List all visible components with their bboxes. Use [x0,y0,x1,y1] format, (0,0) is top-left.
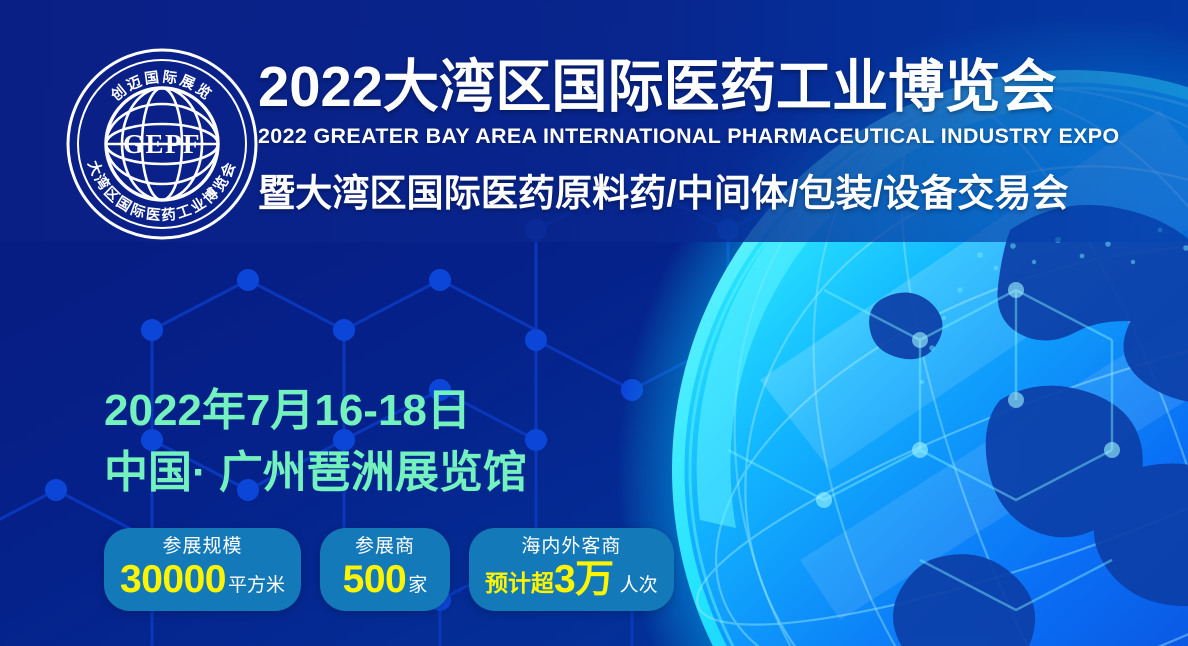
stat-value-unit: 人次 [614,576,658,596]
banner-header: GEPF 创迈国际展览 大湾区国际医药工业博览会 2022大湾区国际医药工业博览… [0,0,1188,240]
stat-value: 30000 平方米 [120,560,285,601]
stat-value: 预计超 3万 人次 [485,560,658,601]
stat-value-unit: 平方米 [226,576,285,596]
stat-label: 海内外客商 [521,535,621,559]
page-title-english: 2022 GREATER BAY AREA INTERNATIONAL PHAR… [258,124,1154,149]
stat-value-number: 500 [343,560,407,601]
event-date: 2022年7月16-18日 [104,388,527,434]
stat-pill-scale: 参展规模 30000 平方米 [104,528,301,611]
stat-pill-visitors: 海内外客商 预计超 3万 人次 [469,528,674,611]
page-title: 2022大湾区国际医药工业博览会 [258,58,1145,116]
stat-label: 参展商 [355,535,415,559]
stat-label: 参展规模 [162,535,242,559]
event-info: 2022年7月16-18日 中国· 广州琶洲展览馆 [104,388,527,496]
event-place: 中国· 广州琶洲展览馆 [104,450,527,496]
stats-row: 参展规模 30000 平方米 参展商 500 家 海内外客商 预计超 3万 人次 [104,528,674,611]
logo-acronym: GEPF [123,129,201,159]
expo-logo: GEPF 创迈国际展览 大湾区国际医药工业博览会 [64,46,260,242]
stat-pill-exhibitors: 参展商 500 家 [320,528,450,611]
logo-bottom-arc-text: 大湾区国际医药工业博览会 [84,158,240,224]
expo-banner: GEPF 创迈国际展览 大湾区国际医药工业博览会 2022大湾区国际医药工业博览… [0,0,1188,646]
stat-value-prefix: 预计超 [485,571,554,595]
logo-svg: GEPF 创迈国际展览 大湾区国际医药工业博览会 [64,46,260,242]
stat-value-number: 30000 [120,560,226,601]
stat-value-number: 3万 [554,560,614,601]
stat-value-unit: 家 [406,576,427,596]
stat-value: 500 家 [343,560,428,601]
title-block: 2022大湾区国际医药工业博览会 2022 GREATER BAY AREA I… [258,58,1158,217]
page-subtitle: 暨大湾区国际医药原料药/中间体/包装/设备交易会 [258,162,1149,217]
